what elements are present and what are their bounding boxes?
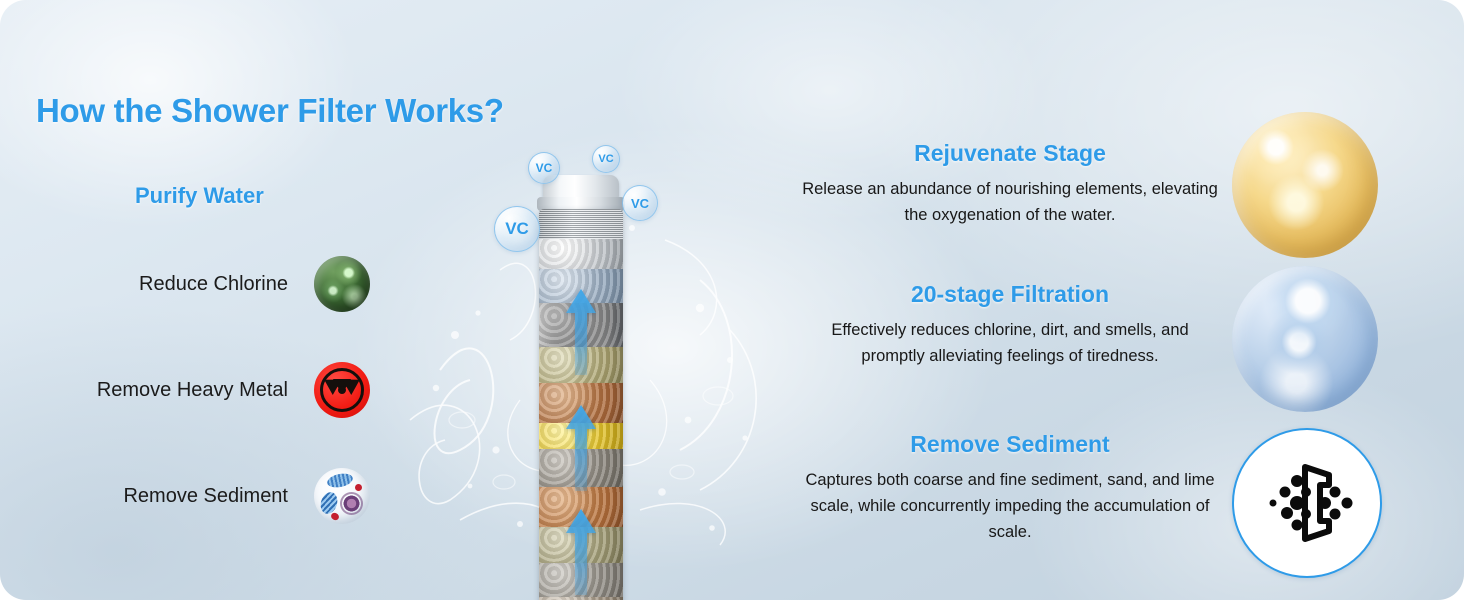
filter-cartridge (535, 175, 627, 600)
golden-bubble-sphere-icon (1232, 112, 1378, 258)
microbe-sediment-icon (314, 468, 370, 524)
vc-bubble-icon: VC (528, 152, 560, 184)
product-illustration (400, 120, 780, 590)
block-body: Release an abundance of nourishing eleme… (800, 176, 1220, 228)
feature-row-remove-sediment: Remove Sediment (40, 468, 370, 524)
block-heading: Rejuvenate Stage (800, 140, 1220, 167)
flow-arrow-icon (566, 405, 596, 491)
filter-barrier-icon (1232, 428, 1382, 578)
block-heading: 20-stage Filtration (800, 281, 1220, 308)
feature-block-remove-sediment: Remove Sediment Captures both coarse and… (800, 431, 1220, 545)
green-bubble-icon (314, 256, 370, 312)
block-body: Effectively reduces chlorine, dirt, and … (800, 317, 1220, 369)
left-column-heading: Purify Water (135, 183, 264, 209)
block-heading: Remove Sediment (800, 431, 1220, 458)
flow-arrow-icon (566, 289, 596, 375)
vc-bubble-icon: VC (622, 185, 658, 221)
water-droplet-sphere-icon (1232, 266, 1378, 412)
feature-block-20-stage-filtration: 20-stage Filtration Effectively reduces … (800, 281, 1220, 369)
vc-bubble-icon: VC (592, 145, 620, 173)
radioactive-icon (314, 362, 370, 418)
feature-label: Remove Sediment (123, 485, 288, 508)
feature-block-rejuvenate-stage: Rejuvenate Stage Release an abundance of… (800, 140, 1220, 228)
cartridge-tube (539, 209, 623, 600)
flow-arrow-icon (566, 509, 596, 595)
feature-label: Remove Heavy Metal (97, 379, 288, 402)
mesh-screen-top (539, 209, 623, 239)
infographic-banner: How the Shower Filter Works? Purify Wate… (0, 0, 1464, 600)
feature-row-remove-heavy-metal: Remove Heavy Metal (40, 362, 370, 418)
vc-bubble-icon: VC (494, 206, 540, 252)
block-body: Captures both coarse and fine sediment, … (800, 467, 1220, 545)
filter-barrier-glyph (1259, 455, 1355, 551)
feature-row-reduce-chlorine: Reduce Chlorine (40, 256, 370, 312)
media-layer (539, 239, 623, 269)
feature-label: Reduce Chlorine (139, 273, 288, 296)
